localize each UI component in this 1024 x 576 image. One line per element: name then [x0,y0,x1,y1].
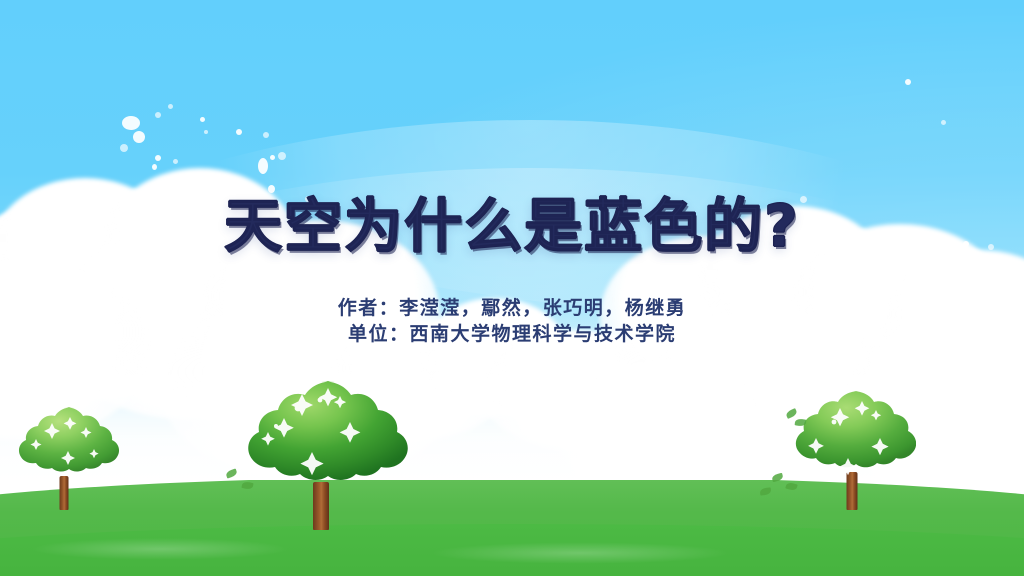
bubble-icon [988,244,994,250]
authors-line: 作者：李滢滢，鄢然，张巧明，杨继勇 [0,296,1024,322]
bubble-icon [824,230,829,235]
cloud-puff [790,224,1010,394]
bubble-icon [152,164,157,170]
bubble-icon [800,196,807,203]
bubble-icon [278,152,286,160]
bubble-icon [236,129,242,135]
subtitle-container: 作者：李滢滢，鄢然，张巧明，杨继勇 单位：西南大学物理科学与技术学院 [0,296,1024,348]
tree-canopy [8,405,120,489]
bubble-icon [204,130,208,134]
cloud-puff [0,200,230,400]
cloud-puff [600,236,810,396]
grass-highlight [430,542,730,564]
sky-arc-top [120,0,1024,320]
bubble-icon [772,284,777,289]
bubble-icon [155,155,161,161]
grass-highlight [30,538,290,560]
bubble-icon [270,155,275,160]
bubble-icon [268,185,275,193]
cloud-puff [700,206,890,356]
bubble-icon [200,117,205,122]
bubble-icon [727,312,734,319]
cloud-puff [420,298,570,418]
bubble-icon [814,268,819,273]
tree-center [232,378,410,530]
bubble-icon [173,159,178,164]
bubble-icon [168,104,173,109]
tree-canopy [232,378,410,504]
bubble-icon [263,132,269,138]
cloud-puff [480,330,670,450]
bubble-icon [155,112,161,118]
tree-canopy [788,388,916,488]
title-container: 天空为什么是蓝色的? [0,196,1024,257]
cloud-puff [880,250,1024,410]
tree-left [8,405,120,510]
bubble-icon [790,250,796,256]
bubble-icon [305,196,311,202]
bubble-icon [133,131,145,143]
bubble-icon [122,116,140,130]
bubble-icon [735,300,744,309]
affiliation-line: 单位：西南大学物理科学与技术学院 [0,322,1024,348]
bubble-icon [941,120,946,125]
bubble-icon [963,241,969,247]
cloud-puff [100,168,300,338]
bubble-icon [168,177,173,182]
title-slide: 天空为什么是蓝色的? 作者：李滢滢，鄢然，张巧明，杨继勇 单位：西南大学物理科学… [0,0,1024,576]
cloud-puff [0,178,180,328]
tree-right [788,388,916,510]
page-title: 天空为什么是蓝色的? [224,196,800,257]
bubble-icon [258,158,268,174]
bubble-icon [745,316,750,321]
bubble-icon [120,144,128,152]
bubble-icon [905,79,911,85]
